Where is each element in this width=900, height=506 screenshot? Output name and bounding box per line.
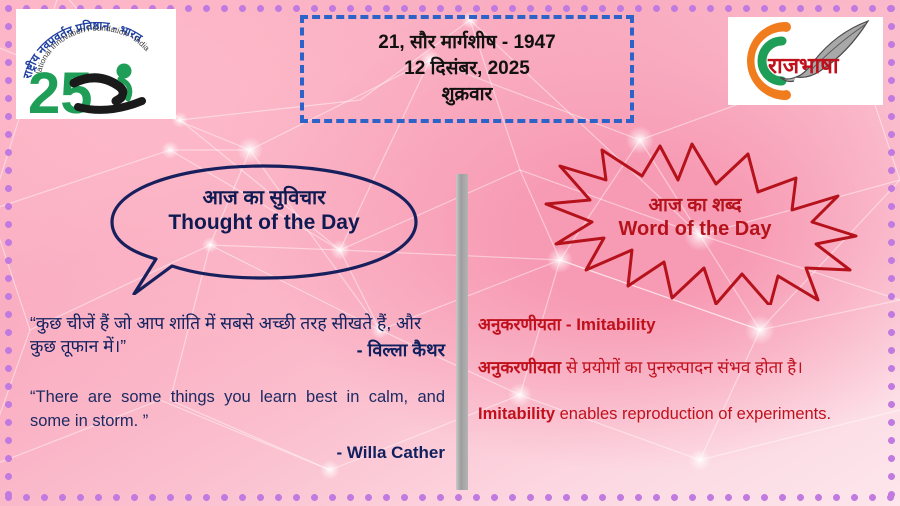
word-title-english: Word of the Day (520, 217, 870, 241)
word-of-the-day-starburst: आज का शब्द Word of the Day (520, 140, 870, 305)
word-heading: अनुकरणीयता - Imitability (478, 312, 878, 335)
date-box: 21, सौर मार्गशीष - 1947 12 दिसंबर, 2025 … (300, 15, 634, 123)
thought-title-hindi: आज का सुविचार (104, 186, 424, 210)
frame-border-left (4, 4, 13, 502)
word-text-column: अनुकरणीयता - Imitability अनुकरणीयता से प… (478, 312, 878, 427)
poster-canvas: राष्ट्रीय नवप्रवर्तन प्रतिष्ठान - भारत N… (0, 0, 900, 506)
word-definition-hindi-rest: से प्रयोगों का पुनरुत्पादन संभव होता है। (561, 358, 803, 377)
frame-border-bottom (4, 493, 896, 502)
nif-logo: राष्ट्रीय नवप्रवर्तन प्रतिष्ठान - भारत N… (16, 9, 176, 119)
thought-quote-english: “There are some things you learn best in… (30, 386, 445, 434)
word-definition-hindi-term: अनुकरणीयता (478, 358, 561, 377)
date-line-gregorian: 12 दिसंबर, 2025 (404, 57, 530, 81)
word-definition-english-rest: enables reproduction of experiments. (555, 405, 831, 423)
rajbhasha-label: राजभाषा (767, 53, 840, 78)
date-line-weekday: शुक्रवार (442, 83, 493, 107)
word-definition-hindi: अनुकरणीयता से प्रयोगों का पुनरुत्पादन सं… (478, 357, 878, 379)
column-divider (456, 174, 468, 490)
thought-of-the-day-bubble: आज का सुविचार Thought of the Day (104, 160, 424, 295)
word-term-hindi: अनुकरणीयता (478, 315, 561, 334)
date-line-saur: 21, सौर मार्गशीष - 1947 (378, 31, 555, 55)
word-title-hindi: आज का शब्द (520, 194, 870, 217)
word-definition-english-term: Imitability (478, 405, 555, 423)
thought-bubble-text: आज का सुविचार Thought of the Day (104, 186, 424, 236)
thought-author-english: - Willa Cather (30, 443, 445, 463)
word-definition-english: Imitability enables reproduction of expe… (478, 403, 878, 427)
word-burst-text: आज का शब्द Word of the Day (520, 194, 870, 242)
thought-title-english: Thought of the Day (104, 210, 424, 236)
rajbhasha-logo: राजभाषा (728, 17, 883, 105)
thought-text-column: “कुछ चीजें हैं जो आप शांति में सबसे अच्छ… (30, 312, 445, 463)
frame-border-right (887, 4, 896, 502)
word-term-separator: - (561, 315, 576, 334)
word-term-english: Imitability (576, 315, 655, 334)
